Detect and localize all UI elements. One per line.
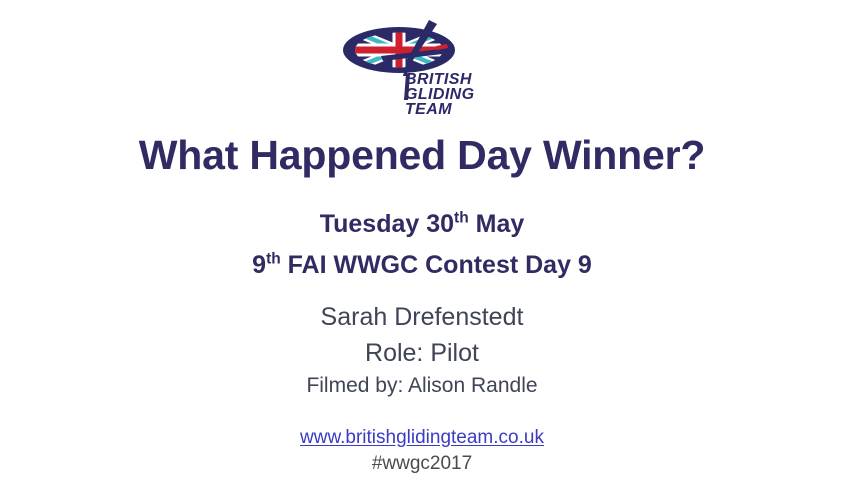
subtitle-contest-suffix: FAI WWGC Contest Day 9 — [281, 251, 592, 279]
presentation-slide: BRITISH GLIDING TEAM What Happened Day W… — [0, 0, 844, 475]
logo-wordmark: BRITISH GLIDING TEAM — [405, 71, 474, 116]
event-hashtag: #wwgc2017 — [0, 451, 844, 476]
logo-container: BRITISH GLIDING TEAM — [0, 14, 844, 116]
subtitle-contest-ordinal: th — [266, 250, 281, 267]
slide-title: What Happened Day Winner? — [0, 134, 844, 177]
subtitle-date-suffix: May — [469, 210, 525, 238]
british-gliding-team-logo: BRITISH GLIDING TEAM — [337, 14, 507, 116]
subtitle-date-ordinal: th — [454, 210, 469, 227]
presenter-name: Sarah Drefenstedt — [0, 300, 844, 336]
presenter-role: Role: Pilot — [0, 336, 844, 372]
subtitle-contest-line: 9th FAI WWGC Contest Day 9 — [0, 245, 844, 286]
presenter-block: Sarah Drefenstedt Role: Pilot Filmed by:… — [0, 300, 844, 401]
subtitle-contest-prefix: 9 — [252, 251, 266, 279]
website-link[interactable]: www.britishglidingteam.co.uk — [300, 425, 544, 450]
slide-footer: www.britishglidingteam.co.uk #wwgc2017 — [0, 425, 844, 477]
subtitle-date-prefix: Tuesday 30 — [320, 210, 454, 238]
slide-subtitle: Tuesday 30th May 9th FAI WWGC Contest Da… — [0, 204, 844, 285]
filmed-by-credit: Filmed by: Alison Randle — [0, 371, 844, 401]
logo-word-team: TEAM — [405, 101, 452, 116]
subtitle-date-line: Tuesday 30th May — [0, 204, 844, 245]
